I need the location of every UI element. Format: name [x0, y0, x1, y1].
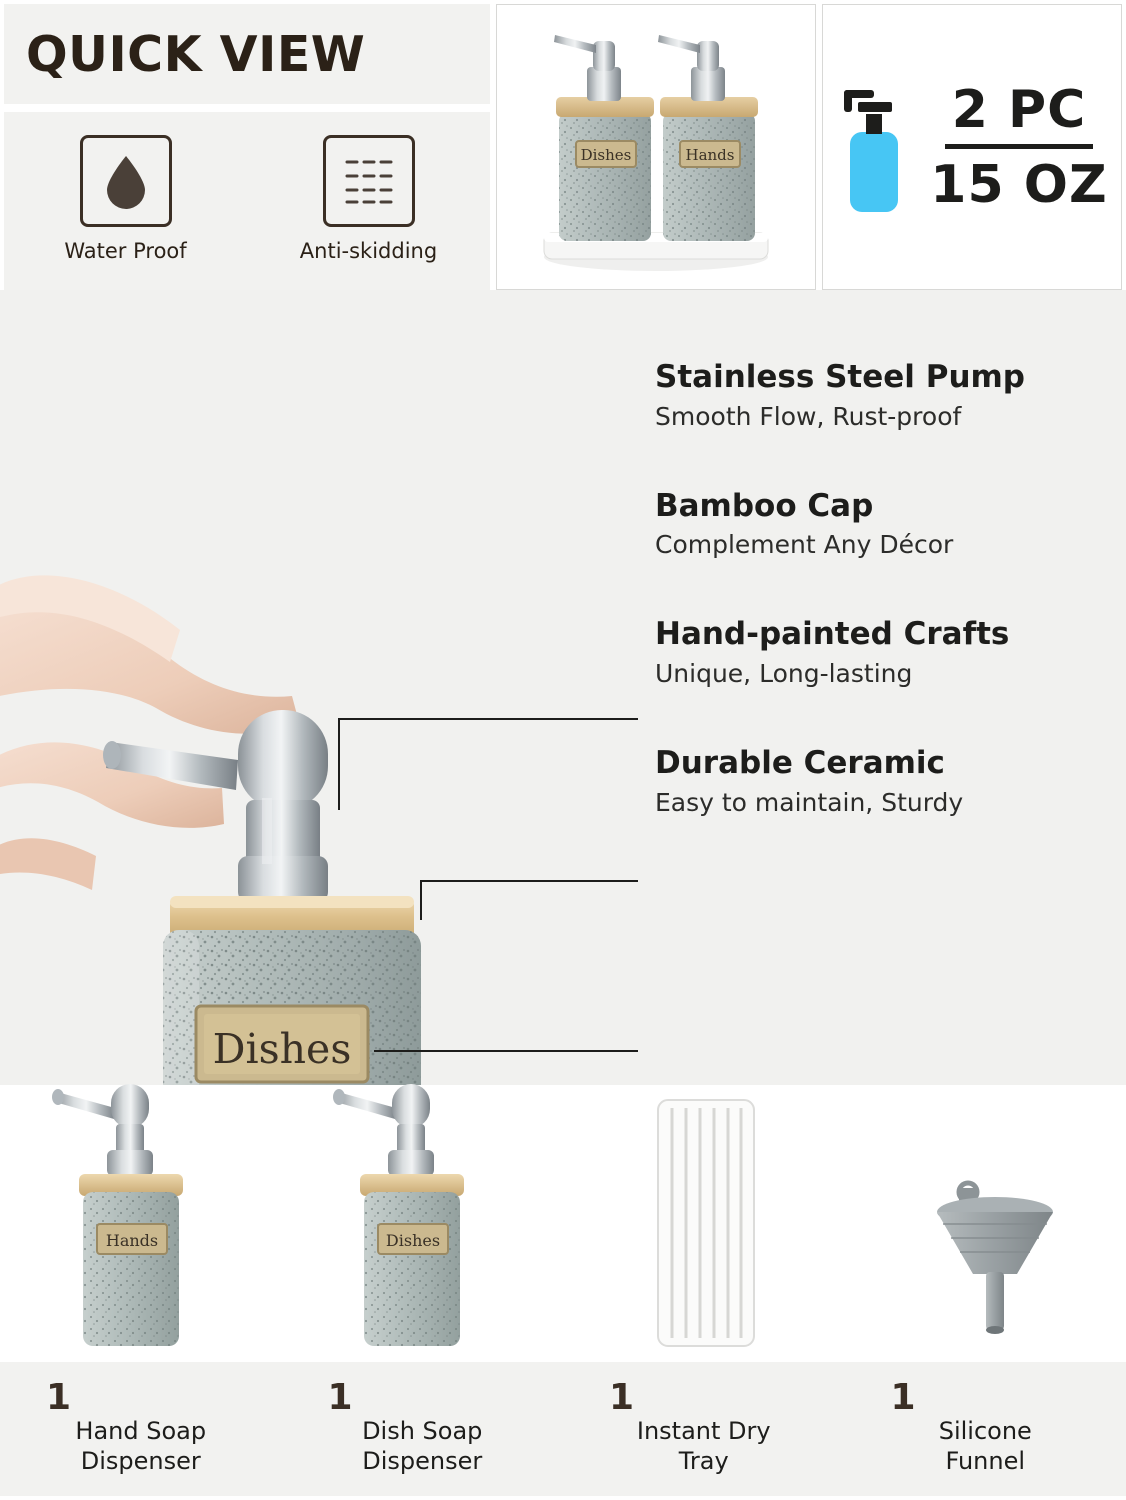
quantity-row: 1: [563, 1372, 845, 1416]
feature-anti-skidding: Anti-skidding: [269, 135, 469, 263]
callout-bamboo-cap: Bamboo Cap Complement Any Décor: [655, 489, 1105, 560]
feature-label: Water Proof: [64, 239, 186, 263]
spec-count: 2 PC: [952, 80, 1087, 140]
caption-block: 1 Hand Soap Dispenser: [0, 1362, 282, 1496]
callout-title: Bamboo Cap: [655, 489, 1105, 525]
callout-sub: Unique, Long-lasting: [655, 659, 1105, 688]
leader-elbow-pump: [338, 718, 340, 810]
hand-soap-dispenser-icon: Hands: [0, 1062, 282, 1362]
leader-line-cap: [420, 880, 638, 882]
quick-view-left: QUICK VIEW Water Proof: [4, 4, 490, 290]
included-item-silicone-funnel: 1 Silicone Funnel: [845, 1085, 1126, 1500]
quantity-row: 1: [0, 1372, 282, 1416]
included-items-strip: Hands 1 Hand Soap Dispenser: [0, 1085, 1126, 1500]
bottle-label: Dishes: [386, 1231, 440, 1250]
quantity-row: 1: [282, 1372, 564, 1416]
callout-durable-ceramic: Durable Ceramic Easy to maintain, Sturdy: [655, 746, 1105, 817]
dish-soap-dispenser-icon: Dishes: [282, 1062, 564, 1362]
preview-right-label: Hands: [686, 146, 735, 164]
spec-divider: [945, 144, 1093, 149]
soap-dispenser-icon: [836, 72, 916, 222]
caption-line-2: Dispenser: [288, 1446, 558, 1476]
quantity: 1: [328, 1380, 353, 1416]
quantity: 1: [46, 1380, 71, 1416]
feature-water-proof: Water Proof: [26, 135, 226, 263]
hero-panel: Dishes Stainless Steel Pump Smooth Flow,…: [0, 290, 1126, 1085]
caption-line-1: Silicone: [851, 1416, 1121, 1446]
callout-hand-painted-crafts: Hand-painted Crafts Unique, Long-lasting: [655, 617, 1105, 688]
spec-values: 2 PC 15 OZ: [930, 80, 1107, 215]
silicone-funnel-icon: [845, 1062, 1126, 1362]
leader-line-crafts: [374, 1050, 638, 1052]
leader-elbow-cap: [420, 880, 422, 920]
callout-title: Durable Ceramic: [655, 746, 1105, 782]
quantity: 1: [609, 1380, 634, 1416]
water-drop-icon: [80, 135, 172, 227]
callout-stainless-steel-pump: Stainless Steel Pump Smooth Flow, Rust-p…: [655, 360, 1105, 431]
bottle-label: Hands: [106, 1231, 158, 1250]
item-caption: Instant Dry Tray: [563, 1416, 845, 1482]
item-caption: Hand Soap Dispenser: [0, 1416, 282, 1482]
leader-line-pump: [338, 718, 638, 720]
quantity-row: 1: [845, 1372, 1126, 1416]
hero-product-illustration: Dishes: [0, 290, 660, 1085]
included-item-dish-soap-dispenser: Dishes 1 Dish Soap Dispenser: [282, 1085, 564, 1500]
caption-line-1: Instant Dry: [569, 1416, 839, 1446]
callout-list: Stainless Steel Pump Smooth Flow, Rust-p…: [655, 360, 1105, 875]
quick-view-bar: QUICK VIEW Water Proof: [0, 0, 1126, 290]
product-pair-illustration: Dishes Hands: [497, 5, 815, 289]
callout-title: Stainless Steel Pump: [655, 360, 1105, 396]
caption-block: 1 Dish Soap Dispenser: [282, 1362, 564, 1496]
caption-line-2: Dispenser: [6, 1446, 276, 1476]
caption-line-2: Tray: [569, 1446, 839, 1476]
callout-title: Hand-painted Crafts: [655, 617, 1105, 653]
caption-line-1: Hand Soap: [6, 1416, 276, 1446]
anti-skid-grid-icon: [323, 135, 415, 227]
item-caption: Silicone Funnel: [845, 1416, 1126, 1482]
feature-badges: Water Proof: [4, 112, 490, 290]
callout-sub: Complement Any Décor: [655, 530, 1105, 559]
callout-sub: Smooth Flow, Rust-proof: [655, 402, 1105, 431]
quantity: 1: [891, 1380, 916, 1416]
item-caption: Dish Soap Dispenser: [282, 1416, 564, 1482]
included-item-instant-dry-tray: 1 Instant Dry Tray: [563, 1085, 845, 1500]
caption-block: 1 Silicone Funnel: [845, 1362, 1126, 1496]
spec-volume: 15 OZ: [930, 155, 1107, 215]
feature-label: Anti-skidding: [300, 239, 437, 263]
product-preview-panel: Dishes Hands: [496, 4, 816, 290]
quick-view-header: QUICK VIEW: [4, 4, 490, 104]
instant-dry-tray-icon: [563, 1062, 845, 1362]
preview-left-label: Dishes: [581, 146, 632, 164]
callout-sub: Easy to maintain, Sturdy: [655, 788, 1105, 817]
caption-block: 1 Instant Dry Tray: [563, 1362, 845, 1496]
caption-line-2: Funnel: [851, 1446, 1121, 1476]
included-item-hand-soap-dispenser: Hands 1 Hand Soap Dispenser: [0, 1085, 282, 1500]
spec-panel: 2 PC 15 OZ: [822, 4, 1122, 290]
caption-line-1: Dish Soap: [288, 1416, 558, 1446]
quick-view-title: QUICK VIEW: [26, 26, 365, 83]
